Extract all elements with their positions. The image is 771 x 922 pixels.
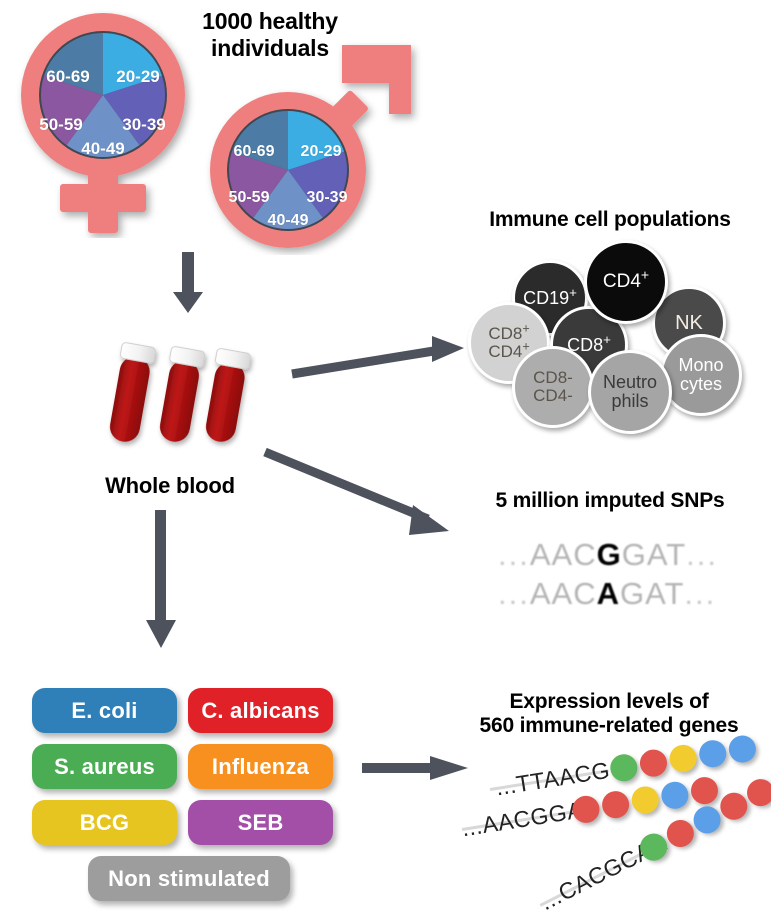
immune-cell-neutrophils: Neutrophils xyxy=(588,350,672,434)
snp-2-variant: A xyxy=(597,576,620,611)
immune-cell-cluster: CD19+ CD4+ NK CD8+CD4+ CD8+ Monocytes CD… xyxy=(468,240,768,430)
expression-bead xyxy=(727,734,758,765)
snp-2-right: GAT xyxy=(620,576,684,611)
snp-sequence-allele-1: ...AACGGAT... xyxy=(498,537,718,573)
snp-2-prefix: ... xyxy=(498,576,530,611)
stimulus-c-albicans[interactable]: C. albicans xyxy=(188,688,333,733)
immune-cell-cd19-label: CD19+ xyxy=(523,289,577,308)
immune-cell-cd8n-cd4n: CD8-CD4- xyxy=(512,346,594,428)
expression-bead xyxy=(659,780,690,811)
stimulus-influenza[interactable]: Influenza xyxy=(188,744,333,789)
snp-2-suffix: ... xyxy=(684,576,716,611)
female-gender-symbol: 20-29 30-39 40-49 50-59 60-69 xyxy=(8,8,208,238)
snp-1-variant: G xyxy=(597,537,622,572)
immune-cell-monocytes: Monocytes xyxy=(660,334,742,416)
snp-sequence-allele-2: ...AACAGAT... xyxy=(498,576,716,612)
snp-2-left: AAC xyxy=(530,576,597,611)
figure-canvas: 1000 healthy individuals xyxy=(0,0,771,922)
blood-tubes xyxy=(95,338,295,463)
stimulus-bcg[interactable]: BCG xyxy=(32,800,177,845)
immune-cell-cd8p-cd4p-label: CD8+CD4+ xyxy=(488,325,529,360)
snp-1-right: GAT xyxy=(622,537,686,572)
expression-title-line1: Expression levels of xyxy=(450,690,768,714)
expression-bead xyxy=(638,748,669,779)
expression-bead xyxy=(630,785,661,816)
male-age-pie xyxy=(227,109,349,231)
immune-cell-monocytes-label: Monocytes xyxy=(678,356,723,393)
stimulus-s-aureus[interactable]: S. aureus xyxy=(32,744,177,789)
snp-1-suffix: ... xyxy=(686,537,718,572)
male-gender-symbol: 20-29 30-39 40-49 50-59 60-69 xyxy=(198,40,428,255)
blood-tube-3 xyxy=(202,348,251,445)
arrow-blood-to-immune xyxy=(290,330,470,380)
snps-section-title: 5 million imputed SNPs xyxy=(455,489,765,513)
immune-cell-nk-label: NK xyxy=(675,313,703,334)
expression-bead xyxy=(697,738,728,769)
arrow-blood-to-stimuli xyxy=(143,510,183,650)
blood-tube-2 xyxy=(156,346,206,444)
expression-bead xyxy=(668,743,699,774)
immune-section-title: Immune cell populations xyxy=(455,208,765,232)
blood-tube-1 xyxy=(106,342,157,444)
female-age-pie xyxy=(39,31,167,159)
expression-section-title: Expression levels of 560 immune-related … xyxy=(450,690,768,739)
expression-bead xyxy=(600,789,631,820)
arrow-stimuli-to-expression xyxy=(362,752,472,786)
arrow-blood-to-snps xyxy=(263,447,463,547)
snp-1-prefix: ... xyxy=(498,537,530,572)
whole-blood-label: Whole blood xyxy=(80,473,260,499)
arrow-cohort-to-blood xyxy=(170,252,206,314)
stimulus-e-coli[interactable]: E. coli xyxy=(32,688,177,733)
stimulus-non-stimulated[interactable]: Non stimulated xyxy=(88,856,290,901)
immune-cell-neutrophils-label: Neutrophils xyxy=(603,373,657,410)
snp-1-left: AAC xyxy=(530,537,597,572)
immune-cell-cd4-label: CD4+ xyxy=(603,272,649,292)
stimulus-seb[interactable]: SEB xyxy=(188,800,333,845)
immune-cell-cd4: CD4+ xyxy=(584,240,668,324)
immune-cell-cd8n-cd4n-label: CD8-CD4- xyxy=(533,369,573,404)
